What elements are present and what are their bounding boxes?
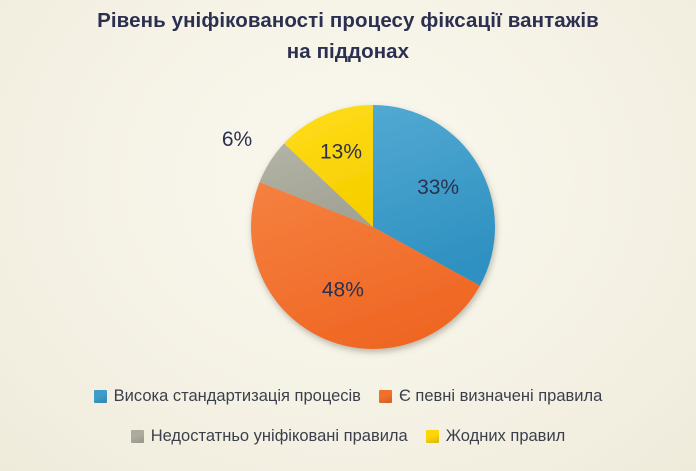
legend-label-zhodnykh-pravyl: Жодних правил [446,426,566,446]
legend-label-ye-pevni-vyznacheni: Є певні визначені правила [399,386,602,406]
legend-swatch-icon-yellow [426,430,439,443]
pie-slices-group [251,105,495,349]
legend-item-ye-pevni-vyznacheni[interactable]: Є певні визначені правила [379,386,602,406]
pie-plot-area: 33% 48% 6% 13% [0,0,696,380]
legend-swatch-icon-blue [94,390,107,403]
legend-label-visoka-standartizaciya: Висока стандартизація процесів [114,386,361,406]
pie-label-48-percent: 48% [322,279,364,302]
pie-label-6-percent: 6% [222,128,252,151]
chart-legend: Висока стандартизація процесів Є певні в… [0,386,696,471]
legend-item-visoka-standartizaciya[interactable]: Висока стандартизація процесів [94,386,361,406]
legend-row-1: Висока стандартизація процесів Є певні в… [0,386,696,406]
legend-row-2: Недостатньо уніфіковані правила Жодних п… [0,426,696,446]
legend-swatch-icon-gray [131,430,144,443]
pie-chart-figure: Рівень уніфікованості процесу фіксації в… [0,0,696,471]
legend-swatch-icon-orange [379,390,392,403]
pie-label-33-percent: 33% [417,176,459,199]
legend-item-zhodnykh-pravyl[interactable]: Жодних правил [426,426,566,446]
pie-label-13-percent: 13% [320,141,362,164]
legend-item-nedostatno-unifikovani[interactable]: Недостатньо уніфіковані правила [131,426,408,446]
legend-label-nedostatno-unifikovani: Недостатньо уніфіковані правила [151,426,408,446]
pie-svg: 33% 48% 6% 13% [0,0,696,380]
